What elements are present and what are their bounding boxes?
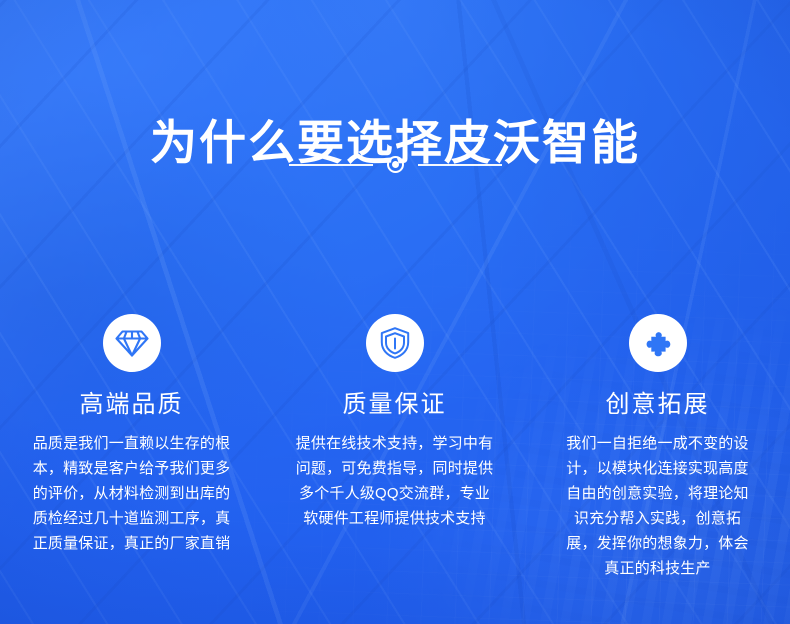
feature-description: 我们一自拒绝一成不变的设计，以模块化连接实现高度自由的创意实验，将理论知识充分帮… (561, 431, 755, 581)
feature-description: 提供在线技术支持，学习中有问题，可免费指导，同时提供多个千人级QQ交流群，专业软… (292, 431, 498, 531)
shield-icon (366, 314, 424, 372)
diamond-icon (103, 314, 161, 372)
puzzle-piece-icon (629, 314, 687, 372)
feature-item-creativity: 创意拓展 我们一自拒绝一成不变的设计，以模块化连接实现高度自由的创意实验，将理论… (526, 314, 789, 581)
section-divider (0, 156, 790, 173)
feature-item-quality: 高端品质 品质是我们一直赖以生存的根本，精致是客户给予我们更多的评价，从材料检测… (0, 314, 263, 581)
divider-line-left (289, 164, 373, 166)
feature-title: 创意拓展 (606, 392, 710, 418)
feature-title: 质量保证 (343, 392, 447, 418)
banner-content: 为什么要选择皮沃智能 高端品质 品质是我们一直赖以生存的根本，精致是客户给予我 (0, 0, 790, 624)
feature-title: 高端品质 (80, 392, 184, 418)
divider-line-right (418, 164, 502, 166)
feature-description: 品质是我们一直赖以生存的根本，精致是客户给予我们更多的评价，从材料检测到出库的质… (26, 431, 238, 556)
feature-item-guarantee: 质量保证 提供在线技术支持，学习中有问题，可免费指导，同时提供多个千人级QQ交流… (263, 314, 526, 581)
dot-circle-icon (387, 156, 404, 173)
feature-columns: 高端品质 品质是我们一直赖以生存的根本，精致是客户给予我们更多的评价，从材料检测… (0, 314, 790, 581)
promo-banner: 为什么要选择皮沃智能 高端品质 品质是我们一直赖以生存的根本，精致是客户给予我 (0, 0, 790, 624)
